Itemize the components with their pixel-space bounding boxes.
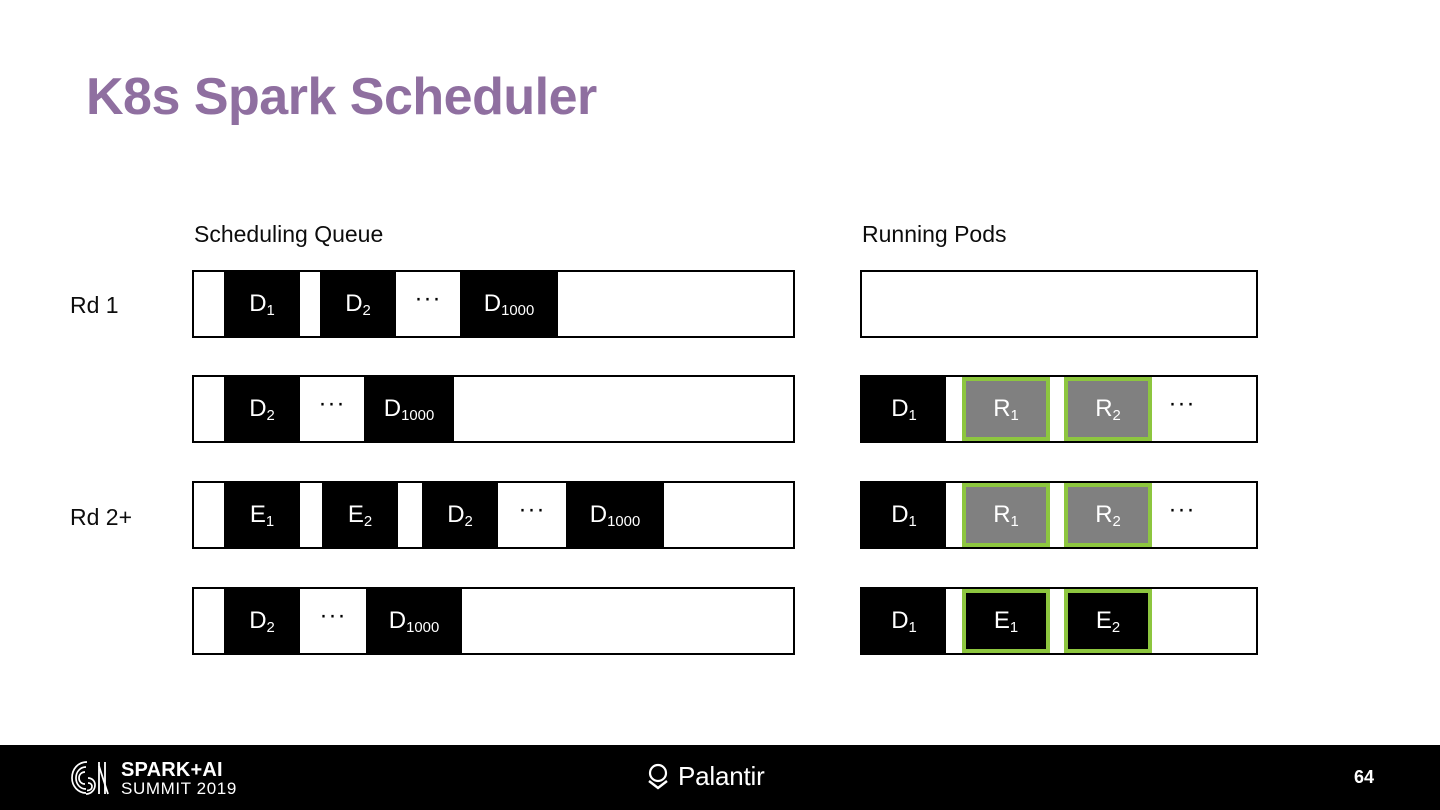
- empty-slot-area: [558, 272, 793, 336]
- running-pods-bar-row2[interactable]: D1R1R2···: [860, 375, 1258, 443]
- pod-label: D1000: [384, 397, 434, 421]
- pod-label: D2: [345, 292, 371, 316]
- pod-e2[interactable]: E2: [1064, 589, 1152, 653]
- pod-r2[interactable]: R2: [1064, 377, 1152, 441]
- slot-gap: [1050, 377, 1064, 441]
- pod-d2[interactable]: D2: [224, 377, 300, 441]
- empty-slot-area: [1152, 589, 1256, 653]
- pod-label: D1: [891, 503, 917, 527]
- pod-label: D1000: [389, 609, 439, 633]
- slot-gap: [398, 483, 422, 547]
- scheduling-queue-bar-row3[interactable]: E1E2D2···D1000: [192, 481, 795, 549]
- pod-label: R2: [1095, 503, 1121, 527]
- slot-gap: [1050, 483, 1064, 547]
- slot-gap: [194, 272, 224, 336]
- scheduling-queue-bar-row2[interactable]: D2···D1000: [192, 375, 795, 443]
- pod-label: R1: [993, 397, 1019, 421]
- pod-label: D1: [891, 609, 917, 633]
- pod-d2[interactable]: D2: [422, 483, 498, 547]
- round-label-rd2plus: Rd 2+: [70, 504, 132, 531]
- spark-summit-logo: SPARK+AI SUMMIT 2019: [68, 758, 237, 798]
- pod-e1[interactable]: E1: [962, 589, 1050, 653]
- pod-r1[interactable]: R1: [962, 483, 1050, 547]
- running-pods-bar-row1[interactable]: [860, 270, 1258, 338]
- pod-label: D1: [249, 292, 275, 316]
- empty-slot-area: [664, 483, 793, 547]
- empty-slot-area: [454, 377, 793, 441]
- pod-d1[interactable]: D1: [862, 589, 946, 653]
- pod-d1[interactable]: D1: [862, 483, 946, 547]
- pod-e1[interactable]: E1: [224, 483, 300, 547]
- ellipsis-label: ···: [498, 483, 566, 547]
- running-pods-bar-row4[interactable]: D1E1E2: [860, 587, 1258, 655]
- pod-label: E1: [994, 609, 1018, 633]
- ellipsis-label: ···: [300, 377, 364, 441]
- ellipsis-label: ···: [1152, 483, 1212, 547]
- spark-summit-wordmark: SPARK+AI SUMMIT 2019: [121, 760, 237, 797]
- slot-gap: [300, 272, 320, 336]
- pod-d1000[interactable]: D1000: [364, 377, 454, 441]
- slot-gap: [300, 483, 322, 547]
- spark-swoosh-icon: [68, 758, 112, 798]
- slot-gap: [1050, 589, 1064, 653]
- pod-label: D1000: [590, 503, 640, 527]
- slot-gap: [946, 377, 962, 441]
- running-pods-heading: Running Pods: [862, 221, 1007, 248]
- empty-slot-area: [1212, 483, 1256, 547]
- pod-r2[interactable]: R2: [1064, 483, 1152, 547]
- slot-gap: [194, 483, 224, 547]
- pod-d2[interactable]: D2: [224, 589, 300, 653]
- scheduling-queue-heading: Scheduling Queue: [194, 221, 383, 248]
- ellipsis-label: ···: [396, 272, 460, 336]
- pod-label: D1000: [484, 292, 534, 316]
- spark-summit-line2: SUMMIT 2019: [121, 780, 237, 797]
- pod-label: E2: [348, 503, 372, 527]
- running-pods-bar-row3[interactable]: D1R1R2···: [860, 481, 1258, 549]
- pod-r1[interactable]: R1: [962, 377, 1050, 441]
- pod-d2[interactable]: D2: [320, 272, 396, 336]
- round-label-rd1: Rd 1: [70, 292, 119, 319]
- footer-bar: SPARK+AI SUMMIT 2019 Palantir 64: [0, 745, 1440, 810]
- pod-d1[interactable]: D1: [224, 272, 300, 336]
- slot-gap: [946, 589, 962, 653]
- slot-gap: [946, 483, 962, 547]
- empty-slot-area: [462, 589, 793, 653]
- palantir-wordmark: Palantir: [678, 761, 765, 792]
- pod-label: D2: [447, 503, 473, 527]
- pod-d1000[interactable]: D1000: [460, 272, 558, 336]
- pod-label: E1: [250, 503, 274, 527]
- ellipsis-label: ···: [300, 589, 366, 653]
- empty-slot-area: [1212, 377, 1256, 441]
- pod-label: D2: [249, 397, 275, 421]
- ellipsis-label: ···: [1152, 377, 1212, 441]
- page-number: 64: [1354, 767, 1374, 788]
- pod-d1000[interactable]: D1000: [566, 483, 664, 547]
- slot-gap: [194, 377, 224, 441]
- palantir-logo: Palantir: [645, 761, 765, 792]
- slide-title: K8s Spark Scheduler: [86, 68, 597, 128]
- pod-d1000[interactable]: D1000: [366, 589, 462, 653]
- spark-summit-line1: SPARK+AI: [121, 760, 237, 780]
- palantir-mark-icon: [645, 762, 671, 792]
- scheduling-queue-bar-row4[interactable]: D2···D1000: [192, 587, 795, 655]
- scheduling-queue-bar-row1[interactable]: D1D2···D1000: [192, 270, 795, 338]
- pod-label: D2: [249, 609, 275, 633]
- pod-label: E2: [1096, 609, 1120, 633]
- pod-label: R1: [993, 503, 1019, 527]
- pod-label: R2: [1095, 397, 1121, 421]
- pod-d1[interactable]: D1: [862, 377, 946, 441]
- slot-gap: [194, 589, 224, 653]
- pod-e2[interactable]: E2: [322, 483, 398, 547]
- pod-label: D1: [891, 397, 917, 421]
